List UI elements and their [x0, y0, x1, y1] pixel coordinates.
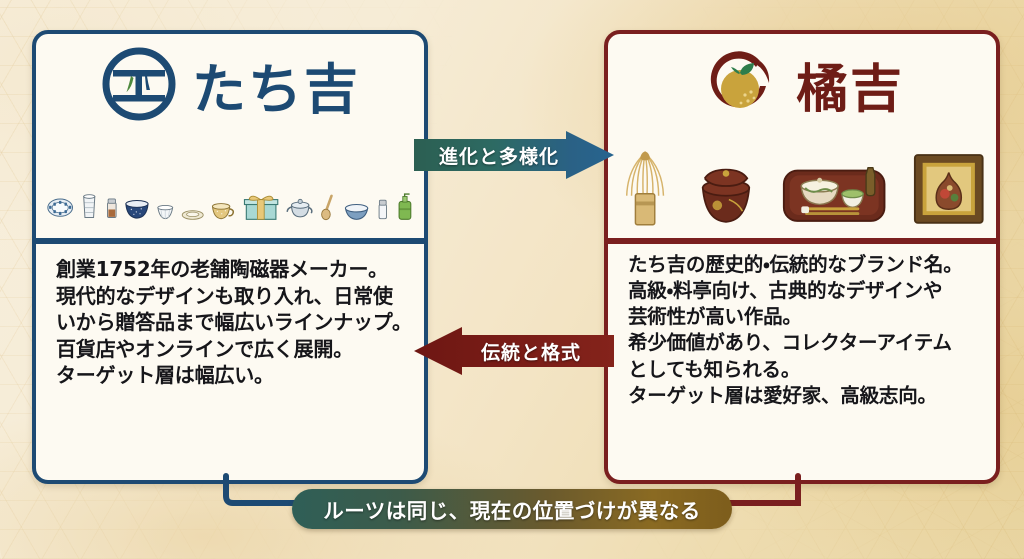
arrow-tradition-label: 伝統と格式 [481, 338, 581, 365]
summary-banner: ルーツは同じ、現在の位置づけが異なる [292, 489, 732, 529]
summary-banner-label: ルーツは同じ、現在の位置づけが異なる [323, 494, 701, 524]
connector-right [724, 476, 798, 503]
connector-lines [0, 0, 1024, 559]
arrow-evolution: 進化と多様化 [414, 131, 614, 179]
arrow-evolution-label: 進化と多様化 [439, 142, 559, 169]
connector-left [226, 476, 300, 503]
arrow-tradition: 伝統と格式 [414, 327, 614, 375]
